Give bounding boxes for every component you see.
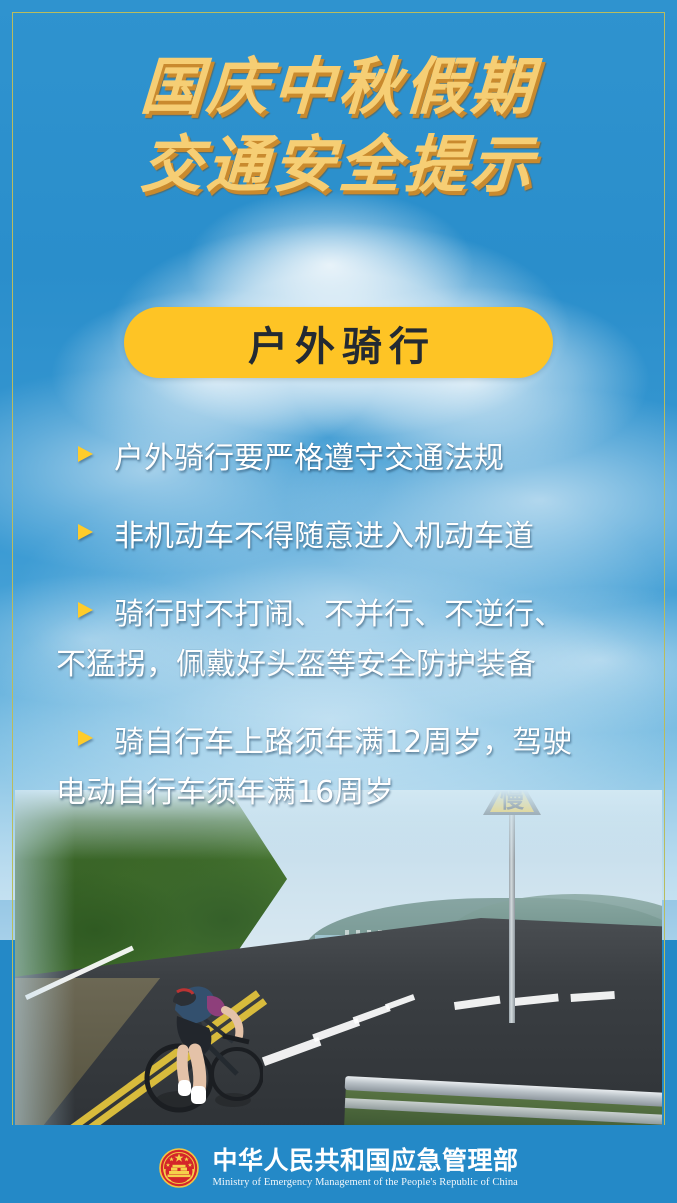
list-item-line: 骑自行车上路须年满12周岁，驾驶 — [56, 718, 647, 768]
list-item: 骑行时不打闹、不并行、不逆行、 不猛拐，佩戴好头盔等安全防护装备 — [56, 590, 647, 690]
footer: 中华人民共和国应急管理部 Ministry of Emergency Manag… — [0, 1146, 677, 1189]
list-item: 非机动车不得随意进入机动车道 — [56, 512, 647, 562]
section-banner-label: 户外骑行 — [241, 314, 436, 372]
list-item: 骑自行车上路须年满12周岁，驾驶 电动自行车须年满16周岁 — [56, 718, 647, 818]
section-banner: 户外骑行 — [124, 307, 553, 378]
footer-agency-en: Ministry of Emergency Management of the … — [212, 1176, 518, 1189]
page-title: 国庆中秋假期 交通安全提示 — [0, 48, 677, 204]
list-item-line: 骑行时不打闹、不并行、不逆行、 — [56, 590, 647, 640]
arrow-right-icon — [78, 730, 93, 746]
arrow-right-icon — [78, 602, 93, 618]
photo-cyclist — [133, 950, 263, 1120]
title-line-2: 交通安全提示 — [0, 126, 677, 204]
footer-agency-block: 中华人民共和国应急管理部 Ministry of Emergency Manag… — [212, 1146, 518, 1189]
arrow-right-icon — [78, 446, 93, 462]
list-item-line: 电动自行车须年满16周岁 — [56, 768, 647, 818]
footer-agency-cn: 中华人民共和国应急管理部 — [212, 1146, 518, 1175]
national-emblem-icon — [158, 1147, 200, 1189]
poster-root: 慢 — [0, 0, 677, 1203]
safety-tips-list: 户外骑行要严格遵守交通法规 非机动车不得随意进入机动车道 骑行时不打闹、不并行、… — [56, 434, 647, 846]
list-item-line: 不猛拐，佩戴好头盔等安全防护装备 — [56, 640, 647, 690]
list-item-line: 户外骑行要严格遵守交通法规 — [56, 434, 647, 484]
list-item-line: 非机动车不得随意进入机动车道 — [56, 512, 647, 562]
arrow-right-icon — [78, 524, 93, 540]
list-item: 户外骑行要严格遵守交通法规 — [56, 434, 647, 484]
title-line-1: 国庆中秋假期 — [0, 48, 677, 126]
